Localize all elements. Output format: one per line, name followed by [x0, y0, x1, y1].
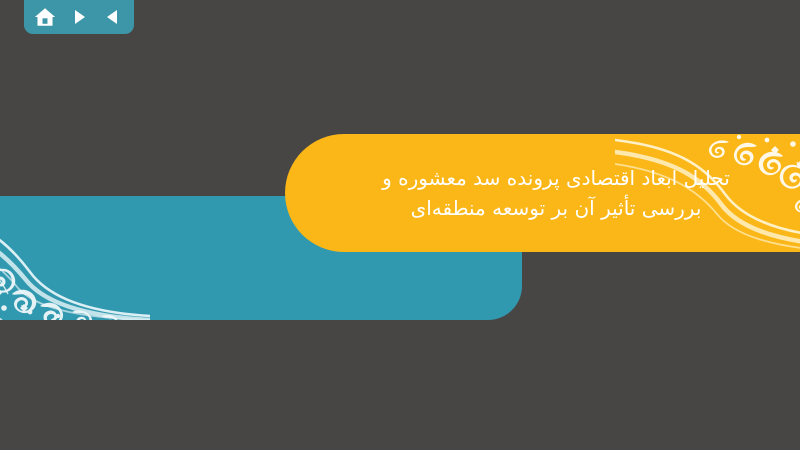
title-banner: تحلیل ابعاد اقتصادی پرونده سد معشوره و ب… [285, 134, 800, 252]
home-button[interactable] [32, 4, 58, 30]
title-line-1: تحلیل ابعاد اقتصادی پرونده سد معشوره و [321, 163, 791, 193]
title-line-2: بررسی تأثیر آن بر توسعه منطقه‌ای [321, 193, 791, 223]
home-icon [34, 6, 56, 28]
page-title: تحلیل ابعاد اقتصادی پرونده سد معشوره و ب… [321, 163, 791, 223]
arabesque-ornament-teal [0, 208, 150, 320]
forward-icon [69, 7, 89, 27]
back-button[interactable] [100, 4, 126, 30]
forward-button[interactable] [66, 4, 92, 30]
back-icon [103, 7, 123, 27]
navigation-bar [24, 0, 134, 34]
presentation-slide: تحلیل ابعاد اقتصادی پرونده سد معشوره و ب… [0, 0, 800, 450]
